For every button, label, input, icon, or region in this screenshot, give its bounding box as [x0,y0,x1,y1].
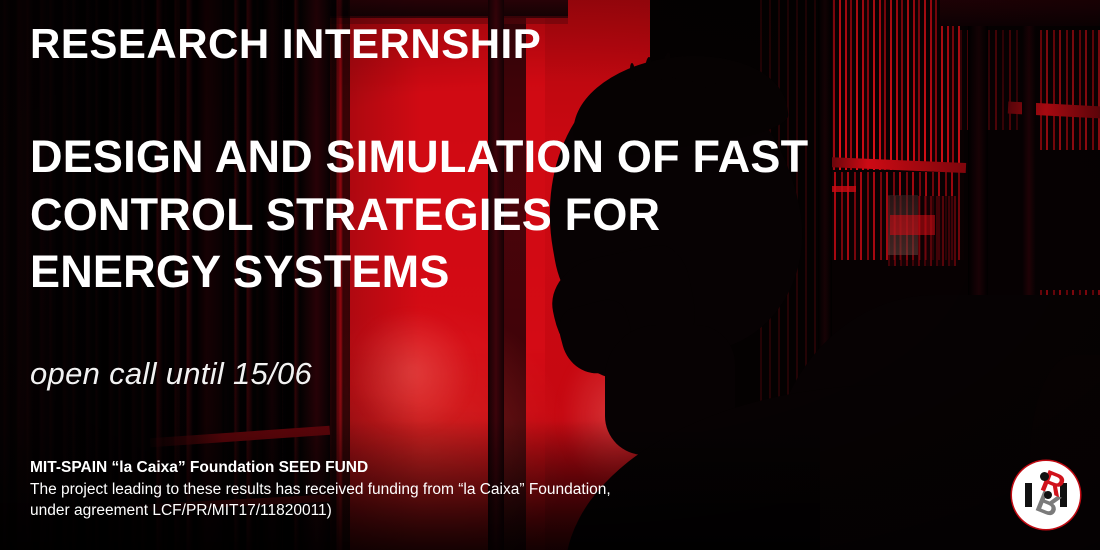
funding-footer: MIT-SPAIN “la Caixa” Foundation SEED FUN… [30,457,611,522]
poster-content: RESEARCH INTERNSHIP DESIGN AND SIMULATIO… [0,0,1100,550]
headline-line-1: DESIGN AND SIMULATION OF FAST [30,128,808,186]
iri-logo: R R [1012,461,1080,529]
footer-line-3: under agreement LCF/PR/MIT17/11820011) [30,500,611,522]
footer-line-1: MIT-SPAIN “la Caixa” Foundation SEED FUN… [30,457,611,479]
headline-line-3: ENERGY SYSTEMS [30,243,808,301]
headline-line-2: CONTROL STRATEGIES FOR [30,186,808,244]
main-headline: DESIGN AND SIMULATION OF FAST CONTROL ST… [30,128,808,301]
logo-dot-upper [1040,472,1049,481]
footer-line-2: The project leading to these results has… [30,479,611,501]
kicker-heading: RESEARCH INTERNSHIP [30,22,541,66]
logo-letter-i-left [1025,483,1032,507]
poster-canvas: RESEARCH INTERNSHIP DESIGN AND SIMULATIO… [0,0,1100,550]
open-call-deadline: open call until 15/06 [30,356,312,392]
logo-dot-lower [1044,491,1052,499]
